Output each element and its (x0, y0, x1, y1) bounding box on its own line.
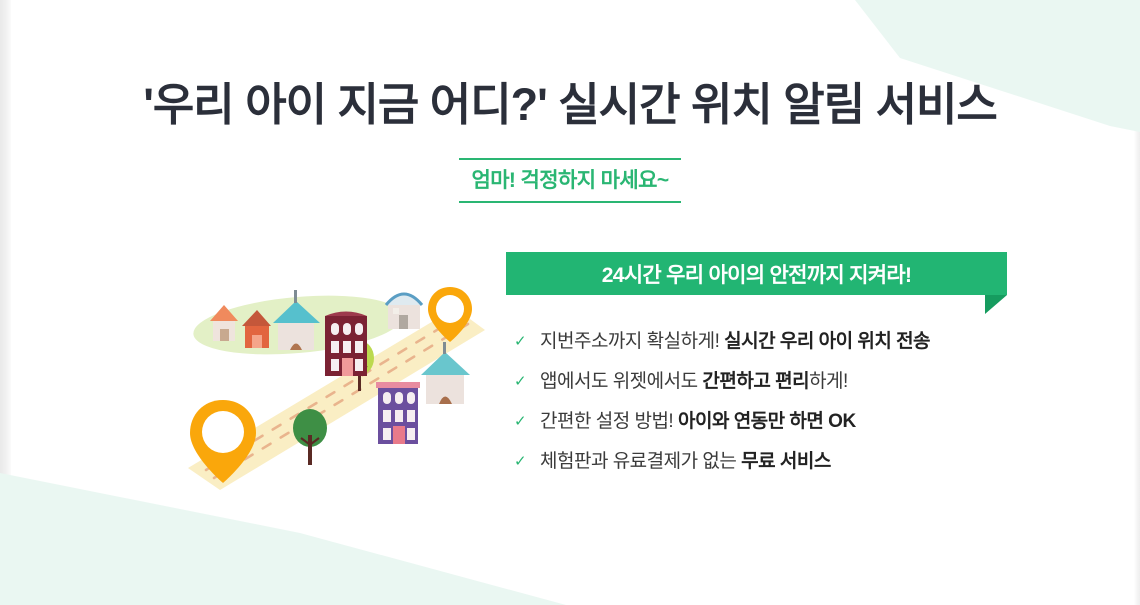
subtitle-text: 엄마! 걱정하지 마세요~ (459, 158, 680, 203)
page-title: '우리 아이 지금 어디?' 실시간 위치 알림 서비스 (0, 76, 1140, 134)
feature-text: 지번주소까지 확실하게! 실시간 우리 아이 위치 전송 (540, 328, 930, 356)
feature-text: 간편한 설정 방법! 아이와 연동만 하면 OK (540, 408, 856, 436)
list-item: ✓ 체험판과 유료결제가 없는 무료 서비스 (512, 448, 1032, 488)
house-domed-blue (386, 294, 422, 329)
feature-text-bold: 무료 서비스 (741, 451, 831, 472)
check-icon: ✓ (512, 408, 540, 436)
neighborhood-map-illustration (180, 278, 485, 500)
feature-text: 앱에서도 위젯에서도 간편하고 편리하게! (540, 368, 848, 396)
feature-text-plain: 지번주소까지 확실하게! (540, 331, 724, 352)
list-item: ✓ 간편한 설정 방법! 아이와 연동만 하면 OK (512, 408, 1032, 448)
feature-text: 체험판과 유료결제가 없는 무료 서비스 (540, 448, 831, 476)
check-icon: ✓ (512, 328, 540, 356)
tree-dark-green (293, 409, 327, 465)
apartment-maroon (325, 312, 367, 377)
apartment-purple (376, 382, 420, 444)
check-icon: ✓ (512, 448, 540, 476)
highlight-ribbon: 24시간 우리 아이의 안전까지 지켜라! (506, 252, 1007, 295)
list-item: ✓ 앱에서도 위젯에서도 간편하고 편리하게! (512, 368, 1032, 408)
highlight-ribbon-label: 24시간 우리 아이의 안전까지 지켜라! (602, 259, 911, 289)
feature-text-bold: 간편하고 편리 (702, 371, 809, 392)
feature-text-tail: 하게! (809, 371, 848, 392)
feature-list: ✓ 지번주소까지 확실하게! 실시간 우리 아이 위치 전송 ✓ 앱에서도 위젯… (512, 328, 1032, 488)
subtitle-container: 엄마! 걱정하지 마세요~ (0, 158, 1140, 203)
feature-text-bold: 아이와 연동만 하면 OK (678, 411, 856, 432)
feature-text-plain: 간편한 설정 방법! (540, 411, 678, 432)
feature-text-plain: 체험판과 유료결제가 없는 (540, 451, 741, 472)
promo-banner-stage: '우리 아이 지금 어디?' 실시간 위치 알림 서비스 엄마! 걱정하지 마세… (0, 0, 1140, 605)
list-item: ✓ 지번주소까지 확실하게! 실시간 우리 아이 위치 전송 (512, 328, 1032, 368)
feature-text-plain: 앱에서도 위젯에서도 (540, 371, 702, 392)
ribbon-fold-corner (985, 295, 1007, 314)
feature-text-bold: 실시간 우리 아이 위치 전송 (724, 331, 930, 352)
check-icon: ✓ (512, 368, 540, 396)
